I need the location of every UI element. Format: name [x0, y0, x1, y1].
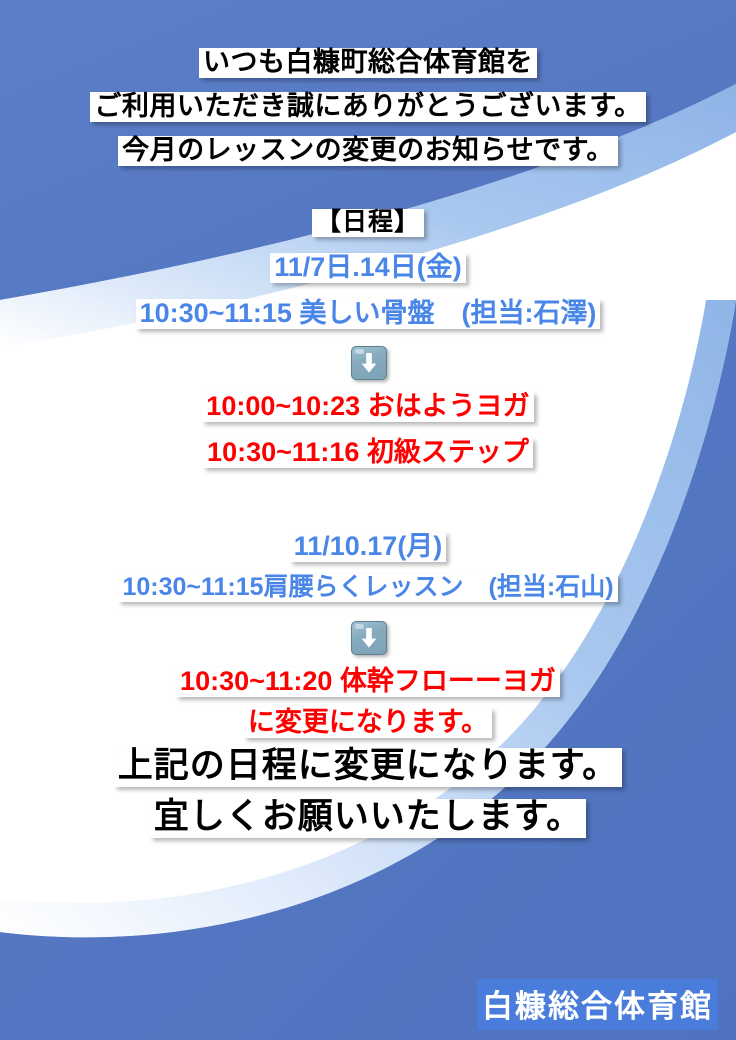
greeting-line-2: ご利用いただき誠にありがとうございます。: [0, 92, 736, 122]
poster-page: いつも白糠町総合体育館を ご利用いただき誠にありがとうございます。 今月のレッス…: [0, 0, 736, 1040]
block-2-date: 11/10.17(月): [0, 532, 736, 562]
block-1-before-lesson: 10:30~11:15 美しい骨盤 (担当:石澤): [0, 299, 736, 329]
closing-line-1: 上記の日程に変更になります。: [0, 748, 736, 787]
down-arrow-icon: [351, 621, 387, 655]
greeting-line-1: いつも白糠町総合体育館を: [0, 48, 736, 78]
closing-line-2: 宜しくお願いいたします。: [0, 799, 736, 838]
block-2-after-lesson-1: 10:30~11:20 体幹フローーヨガ: [0, 667, 736, 697]
down-arrow-glyph: [360, 627, 378, 649]
block-1-after-lesson-1: 10:00~10:23 おはようヨガ: [0, 392, 736, 422]
down-arrow-glyph: [360, 352, 378, 374]
block-2-after-lesson-2: に変更になります。: [0, 708, 736, 738]
down-arrow-icon: [351, 346, 387, 380]
facility-name-badge: 白糠総合体育館: [0, 979, 736, 1030]
schedule-heading: 【日程】: [0, 209, 736, 237]
block-1-after-lesson-2: 10:30~11:16 初級ステップ: [0, 438, 736, 468]
block-2-before-lesson: 10:30~11:15肩腰らくレッスン (担当:石山): [0, 574, 736, 602]
greeting-line-3: 今月のレッスンの変更のお知らせです。: [0, 136, 736, 166]
poster-content: いつも白糠町総合体育館を ご利用いただき誠にありがとうございます。 今月のレッス…: [0, 0, 736, 1040]
block-1-date: 11/7日.14日(金): [0, 253, 736, 283]
